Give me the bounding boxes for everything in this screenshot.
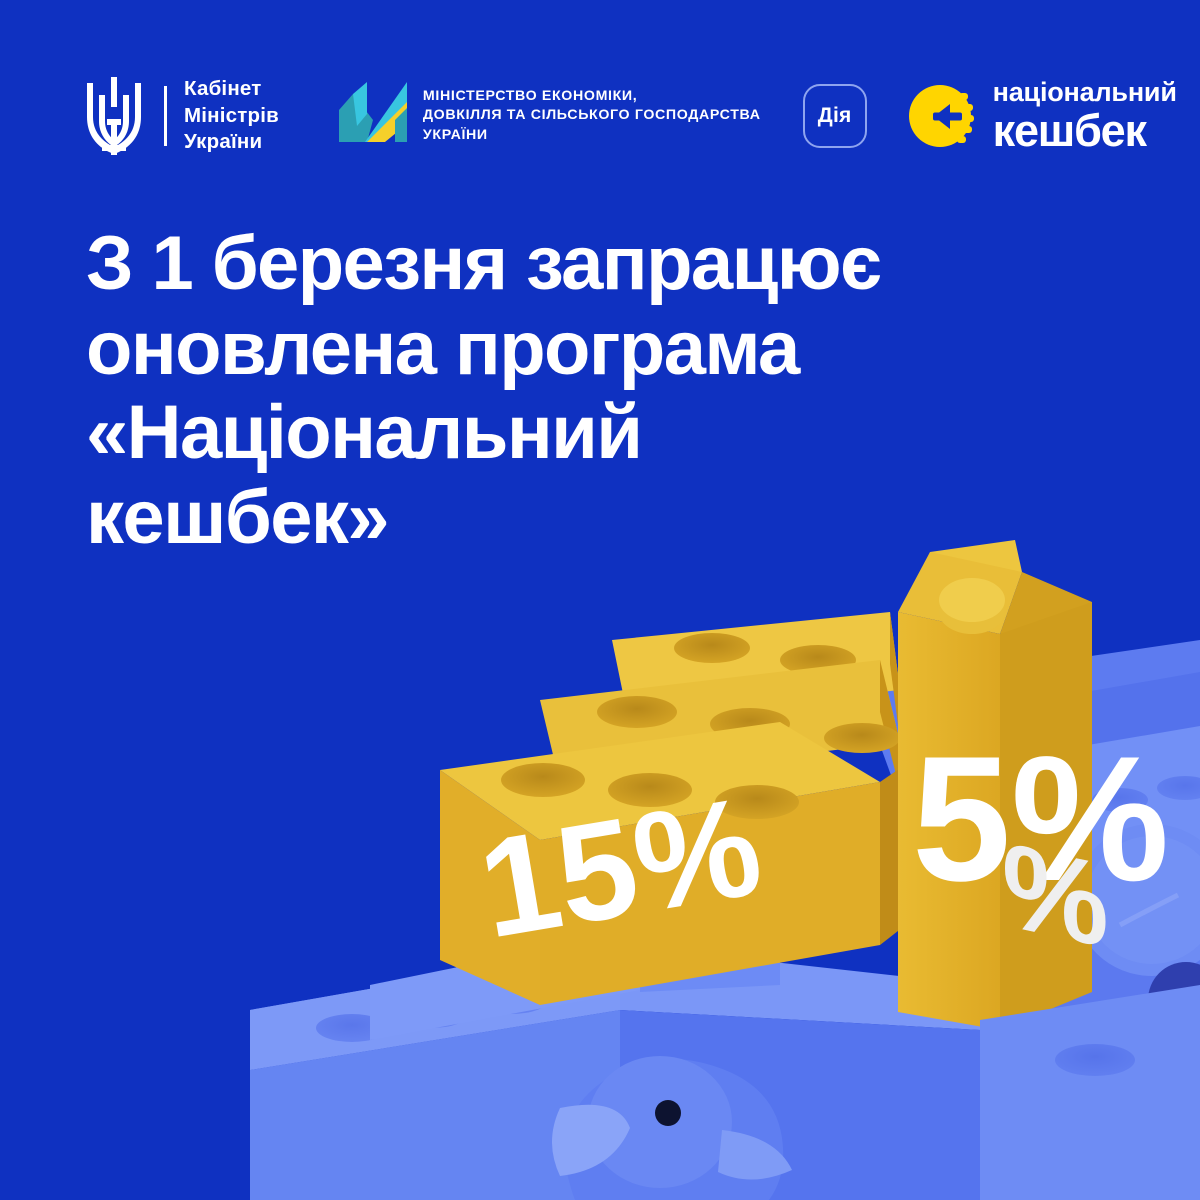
ukraine-trident-icon [84,73,144,159]
yellow-brick-middle [540,660,900,790]
mineco-line-3: УКРАЇНИ [423,126,761,146]
cmu-line-2: Міністрів [184,103,279,130]
yellow-brick-rear [612,612,900,740]
ministry-m-mark-icon [337,80,409,152]
blue-brick-base-back [860,640,1200,1040]
logo-bar: Кабінет Міністрів України МІНІСТЕРСТВО Е… [84,68,1130,164]
blue-rubber-duck [552,1056,792,1200]
poster-canvas: 15% 5% % [0,0,1200,1200]
yellow-milk-carton: 5% % [898,540,1169,1030]
ministry-of-economy-logo: МІНІСТЕРСТВО ЕКОНОМІКИ, ДОВКІЛЛЯ ТА СІЛЬ… [337,70,761,162]
blue-brick-right [1000,726,1200,1200]
mineco-line-2: ДОВКІЛЛЯ ТА СІЛЬСЬКОГО ГОСПОДАРСТВА [423,106,761,126]
national-cashback-logo: національний кешбек [907,70,1177,162]
cashback-wordmark: національний кешбек [993,79,1177,154]
headline: З 1 березня запрацює оновлена програма «… [86,222,1106,561]
blue-brick-left-step [370,930,780,1040]
ministry-of-economy-label: МІНІСТЕРСТВО ЕКОНОМІКИ, ДОВКІЛЛЯ ТА СІЛЬ… [423,87,761,146]
yellow-brick-percent-label: 15% [469,766,771,967]
carton-percent-symbol: % [1002,816,1109,973]
mineco-line-1: МІНІСТЕРСТВО ЕКОНОМІКИ, [423,87,761,107]
diia-label: Дія [818,104,852,128]
headline-line-1: З 1 березня запрацює [86,222,1106,307]
cmu-line-3: України [184,129,279,156]
headline-line-2: оновлена програма [86,307,1106,392]
headline-line-4: кешбек» [86,476,1106,561]
illustration-scene: 15% 5% % [0,0,1200,1200]
cabinet-of-ministers-label: Кабінет Міністрів України [184,76,279,156]
cabinet-of-ministers-logo: Кабінет Міністрів України [84,70,279,162]
cmu-line-1: Кабінет [184,76,279,103]
blue-brick-foreground [980,985,1200,1200]
logo-divider [164,86,167,146]
diia-badge[interactable]: Дія [803,84,867,148]
cashback-line-1: національний [993,79,1177,106]
yellow-brick-front: 15% [440,722,912,1005]
headline-line-3: «Національний [86,391,1106,476]
carton-percent-digit: 5% [912,719,1169,918]
coin-arrow-left-icon [907,79,981,153]
blue-brick-center [250,945,980,1200]
cashback-line-2: кешбек [993,108,1177,154]
